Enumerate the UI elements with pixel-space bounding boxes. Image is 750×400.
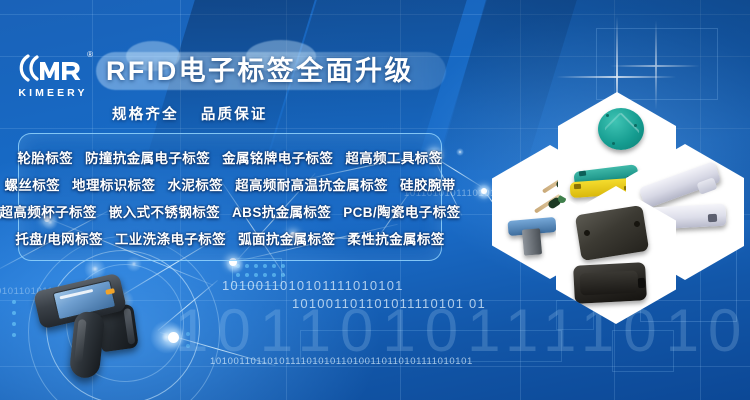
tag-item[interactable]: 工业洗涤电子标签: [115, 228, 226, 248]
product-tag-list-box: 轮胎标签防撞抗金属电子标签金属铭牌电子标签超高频工具标签螺丝标签地理标识标签水泥…: [18, 133, 442, 261]
registered-mark-icon: ®: [87, 50, 93, 59]
logo-wordmark: KIMEERY: [14, 87, 92, 99]
tag-item[interactable]: 嵌入式不锈钢标签: [109, 201, 220, 221]
tag-item[interactable]: 水泥标签: [167, 174, 223, 194]
tag-item[interactable]: 超高频耐高温抗金属标签: [235, 174, 388, 194]
binary-small-bottom: 1010011011010111101010110100110110101111…: [210, 356, 473, 367]
tag-item[interactable]: 柔性抗金属标签: [347, 228, 444, 248]
rfid-handheld-reader: [28, 272, 148, 380]
tag-item[interactable]: 螺丝标签: [4, 174, 60, 194]
reader-pistol-grip: [69, 311, 106, 380]
reader-indicator-light: [105, 288, 115, 295]
tag-row: 轮胎标签防撞抗金属电子标签金属铭牌电子标签超高频工具标签: [19, 143, 441, 170]
tag-row: 超高频杯子标签嵌入式不锈钢标签ABS抗金属标签PCB/陶瓷电子标签: [19, 197, 441, 224]
tag-item[interactable]: 托盘/电网标签: [15, 228, 103, 248]
rfid-promo-banner: 10110101111010 1010011010101111010101 10…: [0, 0, 750, 400]
tag-item[interactable]: 地理标识标签: [72, 174, 155, 194]
subtitle-part-2: 品质保证: [201, 107, 268, 123]
tag-row: 托盘/电网标签工业洗涤电子标签弧面抗金属标签柔性抗金属标签: [19, 224, 441, 251]
kmr-mark-icon: ®: [14, 52, 92, 84]
tag-row: 螺丝标签地理标识标签水泥标签超高频耐高温抗金属标签硅胶腕带: [19, 170, 441, 197]
binary-mid-text-1: 1010011010101111010101: [222, 278, 404, 293]
tag-item[interactable]: PCB/陶瓷电子标签: [343, 201, 460, 221]
tag-item[interactable]: 金属铭牌电子标签: [222, 147, 333, 167]
page-subtitle: 规格齐全品质保证: [112, 103, 290, 124]
tag-item[interactable]: 防撞抗金属电子标签: [85, 147, 210, 167]
tag-item[interactable]: 轮胎标签: [17, 147, 73, 167]
kimeery-logo[interactable]: ® KIMEERY: [14, 52, 92, 99]
tag-item[interactable]: ABS抗金属标签: [232, 201, 331, 221]
tag-item[interactable]: 超高频工具标签: [345, 147, 442, 167]
subtitle-part-1: 规格齐全: [112, 107, 179, 123]
tag-item[interactable]: 弧面抗金属标签: [238, 228, 335, 248]
page-title: RFID电子标签全面升级: [106, 54, 446, 88]
tag-item[interactable]: 超高频杯子标签: [0, 201, 97, 221]
tag-item[interactable]: 硅胶腕带: [400, 174, 456, 194]
binary-mid-text-2: 101001101101011110101 01: [292, 296, 486, 311]
